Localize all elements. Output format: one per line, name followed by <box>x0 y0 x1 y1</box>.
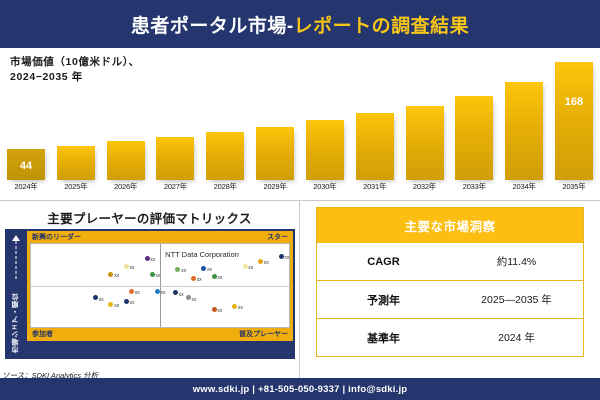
matrix-horizontal-divider <box>31 286 289 287</box>
bar-group <box>155 52 195 180</box>
matrix-quadrants: NTT Data Corporation xxxxxxxxxxxxxxxxxxx… <box>30 243 290 328</box>
bar-group <box>504 52 544 180</box>
matrix-top-labels: 新興のリーダー スター <box>30 231 290 242</box>
page-title-main: 患者ポータル市場- <box>131 16 294 37</box>
quadrant-label-emerging-leaders: 新興のリーダー <box>32 232 81 242</box>
footer-contact: www.sdki.jp | +81-505-050-9337 | info@sd… <box>193 384 408 395</box>
matrix-data-point <box>108 302 113 307</box>
bar-group <box>405 52 445 180</box>
matrix-data-point <box>155 289 160 294</box>
x-axis-tick: 2031年 <box>355 181 395 192</box>
bar-group <box>305 52 345 180</box>
right-arrow-icon <box>284 364 291 372</box>
x-axis-dashed-line <box>123 368 281 369</box>
x-axis-tick: 2033年 <box>454 181 494 192</box>
matrix-data-point-label: xx <box>114 273 119 279</box>
bar-2030年 <box>306 120 344 180</box>
x-axis-tick: 2032年 <box>405 181 445 192</box>
insights-row: CAGR約11.4% <box>317 243 583 280</box>
matrix-data-point-label: xx <box>197 277 202 283</box>
bar-group <box>255 52 295 180</box>
matrix-data-point-label: xx <box>130 300 135 306</box>
matrix-title: 主要プレーヤーの評価マトリックス <box>0 201 299 227</box>
matrix-data-point <box>279 254 284 259</box>
bar-2025年 <box>57 146 95 180</box>
bar-2024年: 44 <box>7 149 45 180</box>
matrix-data-point <box>201 266 206 271</box>
matrix-data-point-label: xx <box>217 275 222 281</box>
matrix-data-point-label: xx <box>181 268 186 274</box>
bar-group: 168 <box>554 52 594 180</box>
matrix-data-point <box>145 256 150 261</box>
bar-2032年 <box>406 106 444 180</box>
matrix-band: 新興のリーダー スター NTT Data Corporation xxxxxxx… <box>27 231 293 341</box>
bar-group <box>355 52 395 180</box>
matrix-chart: 市場シェア・順位 新興のリーダー スター NTT Data Corporatio… <box>5 229 295 359</box>
page-title: 患者ポータル市場-レポートの調査結果 <box>131 11 469 38</box>
matrix-data-point <box>232 304 237 309</box>
matrix-data-point <box>129 289 134 294</box>
lower-panels: 主要プレーヤーの評価マトリックス 市場シェア・順位 新興のリーダー スター <box>0 201 600 383</box>
quadrant-label-participants: 参加者 <box>32 329 53 339</box>
bar-2029年 <box>256 127 294 180</box>
bar-2028年 <box>206 132 244 180</box>
infographic-root: 患者ポータル市場-レポートの調査結果 44168 2024年2025年2026年… <box>0 0 600 400</box>
matrix-data-point-label: xx <box>155 273 160 279</box>
matrix-data-point <box>191 276 196 281</box>
matrix-data-point-label: xx <box>99 297 104 303</box>
matrix-data-point-label: xx <box>191 297 196 303</box>
x-axis-tick: 2030年 <box>305 181 345 192</box>
matrix-data-point <box>173 290 178 295</box>
x-axis-tick: 2027年 <box>155 181 195 192</box>
matrix-highlight-company-label: NTT Data Corporation <box>165 250 239 259</box>
matrix-y-axis: 市場シェア・順位 <box>7 233 25 355</box>
matrix-data-point-label: xx <box>264 260 269 266</box>
matrix-data-point <box>212 274 217 279</box>
key-insights-panel: 主要な市場洞察 CAGR約11.4%予測年2025—2035 年基準年2024 … <box>300 201 600 383</box>
matrix-data-point-label: xx <box>179 292 184 298</box>
matrix-data-point <box>93 295 98 300</box>
matrix-bottom-labels: 参加者 普及プレーヤー <box>30 329 290 340</box>
chart-x-axis: 2024年2025年2026年2027年2028年2029年2030年2031年… <box>6 181 594 192</box>
matrix-data-point <box>186 295 191 300</box>
y-axis-dashed-line <box>16 241 17 279</box>
matrix-data-point-label: xx <box>248 265 253 271</box>
bar-value-label: 44 <box>7 160 45 172</box>
insights-row: 基準年2024 年 <box>317 318 583 356</box>
matrix-data-point-label: xx <box>207 267 212 273</box>
x-axis-tick: 2035年 <box>554 181 594 192</box>
matrix-data-point <box>150 272 155 277</box>
x-axis-tick: 2029年 <box>255 181 295 192</box>
insights-row-key: 基準年 <box>317 330 450 346</box>
matrix-data-point-label: xx <box>150 257 155 263</box>
matrix-data-point <box>243 264 248 269</box>
matrix-data-point-label: xx <box>217 308 222 314</box>
x-axis-tick: 2034年 <box>504 181 544 192</box>
competitive-matrix-panel: 主要プレーヤーの評価マトリックス 市場シェア・順位 新興のリーダー スター <box>0 201 300 383</box>
bar-2033年 <box>455 96 493 180</box>
bar-2034年 <box>505 82 543 180</box>
page-title-accent: レポートの調査結果 <box>294 16 470 37</box>
x-axis-tick: 2024年 <box>6 181 46 192</box>
bar-group <box>205 52 245 180</box>
insights-table-header: 主要な市場洞察 <box>317 208 583 243</box>
matrix-data-point <box>124 264 129 269</box>
bar-value-label: 168 <box>555 96 593 108</box>
insights-table: 主要な市場洞察 CAGR約11.4%予測年2025—2035 年基準年2024 … <box>316 207 584 357</box>
matrix-data-point-label: xx <box>135 290 140 296</box>
matrix-data-point <box>175 267 180 272</box>
x-axis-tick: 2026年 <box>106 181 146 192</box>
insights-row: 予測年2025—2035 年 <box>317 280 583 318</box>
matrix-data-point-label: xx <box>238 305 243 311</box>
insights-row-key: 予測年 <box>317 292 450 308</box>
insights-table-body: CAGR約11.4%予測年2025—2035 年基準年2024 年 <box>317 243 583 356</box>
bar-2026年 <box>107 141 145 180</box>
bar-2031年 <box>356 113 394 180</box>
matrix-data-point <box>108 272 113 277</box>
x-axis-tick: 2028年 <box>205 181 245 192</box>
matrix-y-axis-label: 市場シェア・順位 <box>11 293 21 353</box>
matrix-data-point <box>258 259 263 264</box>
matrix-data-point-label: xx <box>284 255 289 261</box>
bar-group <box>454 52 494 180</box>
matrix-data-point-label: xx <box>161 290 166 296</box>
x-axis-tick: 2025年 <box>56 181 96 192</box>
bar-2035年: 168 <box>555 62 593 180</box>
quadrant-label-stars: スター <box>267 232 288 242</box>
market-value-chart: 44168 2024年2025年2026年2027年2028年2029年2030… <box>0 48 600 201</box>
insights-row-key: CAGR <box>317 256 450 268</box>
bar-2027年 <box>156 137 194 180</box>
quadrant-label-pervasive-players: 普及プレーヤー <box>239 329 288 339</box>
matrix-data-point-label: xx <box>130 265 135 271</box>
footer-bar: www.sdki.jp | +81-505-050-9337 | info@sd… <box>0 378 600 400</box>
insights-row-value: 約11.4% <box>450 254 583 269</box>
insights-row-value: 2025—2035 年 <box>450 292 583 307</box>
matrix-data-point <box>124 299 129 304</box>
chart-caption: 市場価値（10億米ドル）、 2024−2035 年 <box>10 55 140 85</box>
matrix-data-point-label: xx <box>114 303 119 309</box>
matrix-data-point <box>212 307 217 312</box>
header-bar: 患者ポータル市場-レポートの調査結果 <box>0 0 600 48</box>
insights-row-value: 2024 年 <box>450 330 583 345</box>
